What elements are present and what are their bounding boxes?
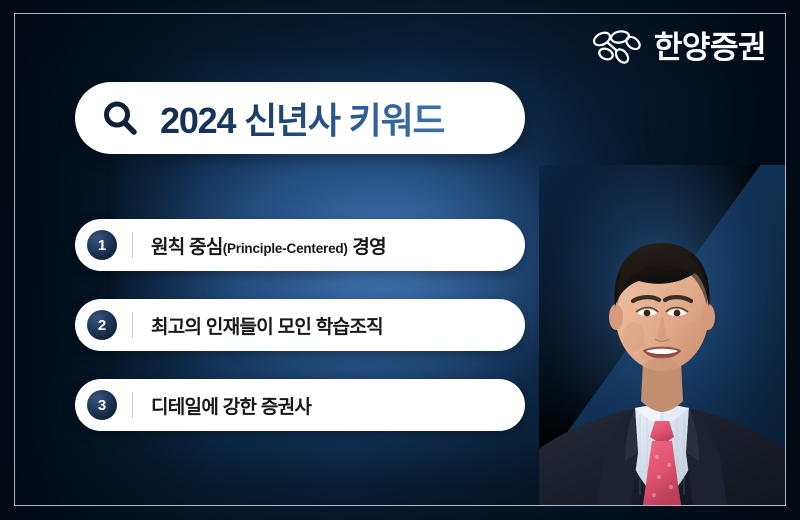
keyword-text: 원칙 중심(Principle-Centered) 경영 <box>151 232 386 259</box>
title-pill: 2024 신년사 키워드 <box>75 82 525 154</box>
hanyang-securities-symbol-icon <box>589 27 645 67</box>
poster-card: 한양증권 2024 신년사 키워드 1 원칙 중심(Principle-Cent… <box>0 0 800 520</box>
keyword-tail: 경영 <box>348 237 386 258</box>
keyword-main: 최고의 인재들이 모인 학습조직 <box>151 317 383 338</box>
keyword-number-badge: 3 <box>87 390 117 420</box>
keyword-list: 1 원칙 중심(Principle-Centered) 경영 2 최고의 인재들… <box>75 219 525 459</box>
row-divider <box>132 312 133 338</box>
list-item: 1 원칙 중심(Principle-Centered) 경영 <box>75 219 525 271</box>
executive-portrait <box>539 165 785 505</box>
search-icon <box>101 99 139 137</box>
keyword-number-badge: 1 <box>87 230 117 260</box>
row-divider <box>132 392 133 418</box>
keyword-text: 최고의 인재들이 모인 학습조직 <box>151 312 383 339</box>
keyword-sub: (Principle-Centered) <box>223 241 348 256</box>
brand-logo: 한양증권 <box>589 27 766 67</box>
keyword-number-badge: 2 <box>87 310 117 340</box>
list-item: 2 최고의 인재들이 모인 학습조직 <box>75 299 525 351</box>
keyword-main: 디테일에 강한 증권사 <box>151 397 311 418</box>
page-title: 2024 신년사 키워드 <box>160 92 444 144</box>
brand-name: 한양증권 <box>654 32 766 63</box>
keyword-main: 원칙 중심 <box>151 237 223 258</box>
list-item: 3 디테일에 강한 증권사 <box>75 379 525 431</box>
keyword-text: 디테일에 강한 증권사 <box>151 392 311 419</box>
row-divider <box>132 232 133 258</box>
